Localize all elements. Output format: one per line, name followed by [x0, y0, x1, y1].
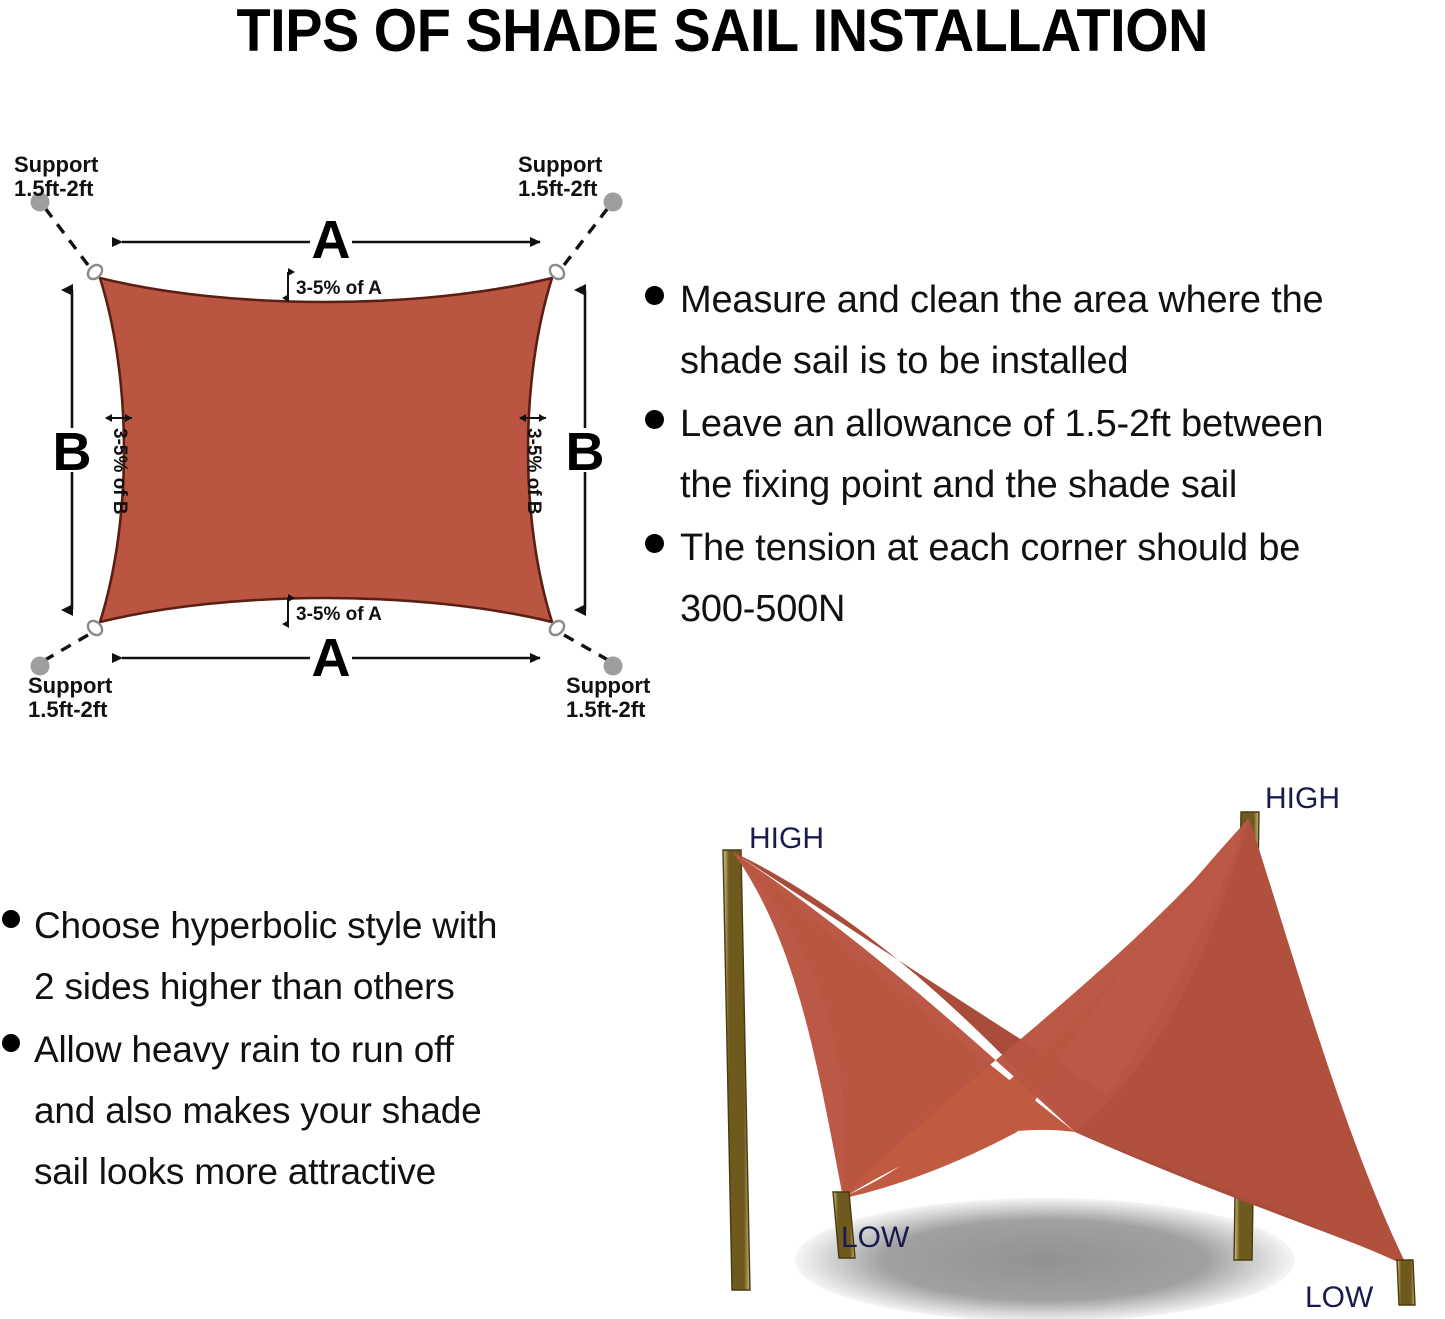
support-label-bottom-left-line2: 1.5ft-2ft: [28, 697, 108, 722]
bullet-icon: [2, 1034, 20, 1052]
support-label-top-left-line2: 1.5ft-2ft: [14, 176, 94, 201]
callout-bottom-label: 3-5% of A: [296, 604, 382, 625]
tether-top-right: [564, 208, 608, 265]
tether-bottom-left: [45, 635, 88, 660]
page-title: TIPS OF SHADE SAIL INSTALLATION: [237, 2, 1208, 60]
list-item: The tension at each corner should be 300…: [645, 518, 1445, 640]
support-label-top-right-line2: 1.5ft-2ft: [518, 176, 598, 201]
tip-line: 2 sides higher than others: [34, 966, 455, 1007]
tip-line: the fixing point and the shade sail: [680, 464, 1237, 506]
dimension-label-b-right: B: [566, 422, 605, 482]
list-item: Measure and clean the area where the sha…: [645, 270, 1445, 392]
tips-list-top: Measure and clean the area where the sha…: [645, 270, 1445, 642]
tips-list-bottom: Choose hyperbolic style with 2 sides hig…: [2, 895, 632, 1204]
support-label-bottom-right-line2: 1.5ft-2ft: [566, 697, 646, 722]
tip-text: Leave an allowance of 1.5-2ft between th…: [680, 394, 1323, 516]
dimension-label-b-left: B: [53, 422, 92, 482]
dimension-label-a-top: A: [312, 210, 351, 270]
list-item: Allow heavy rain to run off and also mak…: [2, 1019, 632, 1202]
bullet-icon: [2, 910, 20, 928]
callout-bottom-curvature-group: 3-5% of A: [288, 598, 382, 625]
tip-line: sail looks more attractive: [34, 1151, 436, 1192]
callout-top-curvature-group: 3-5% of A: [288, 272, 382, 299]
support-label-bottom-left-line1: Support: [28, 673, 113, 698]
dimension-label-a-bottom: A: [312, 628, 351, 688]
pole-label-high-left: HIGH: [749, 822, 824, 855]
tip-line: shade sail is to be installed: [680, 340, 1128, 382]
pole-label-low-left: LOW: [841, 1221, 910, 1254]
sail-body-group: [100, 278, 552, 622]
hyperbolic-sail-illustration: HIGH HIGH LOW LOW: [645, 760, 1445, 1319]
pole-label-low-right: LOW: [1305, 1281, 1374, 1314]
tip-text: Measure and clean the area where the sha…: [680, 270, 1323, 392]
callout-right-label: 3-5% of B: [523, 428, 544, 515]
tip-line: Choose hyperbolic style with: [34, 905, 497, 946]
infographic-page: TIPS OF SHADE SAIL INSTALLATION: [0, 0, 1445, 1319]
callout-left-label: 3-5% of B: [109, 428, 130, 515]
tip-line: and also makes your shade: [34, 1090, 482, 1131]
bullet-icon: [645, 410, 664, 429]
tip-text: Choose hyperbolic style with 2 sides hig…: [34, 895, 497, 1017]
callout-top-label: 3-5% of A: [296, 278, 382, 299]
pole-low-right: [1397, 1260, 1415, 1305]
tip-line: 300-500N: [680, 588, 845, 630]
callout-right-curvature-group: 3-5% of B: [520, 418, 546, 515]
dimension-a-bottom-group: A: [122, 628, 540, 688]
tip-line: Leave an allowance of 1.5-2ft between: [680, 403, 1323, 445]
tip-line: Allow heavy rain to run off: [34, 1029, 454, 1070]
list-item: Choose hyperbolic style with 2 sides hig…: [2, 895, 632, 1017]
tether-bottom-right: [564, 635, 608, 660]
dimension-b-right-group: B: [566, 290, 605, 610]
dimension-a-top-group: A: [122, 210, 540, 270]
tip-line: Measure and clean the area where the: [680, 279, 1323, 321]
title-bar: TIPS OF SHADE SAIL INSTALLATION: [0, 0, 1445, 62]
bullet-icon: [645, 534, 664, 553]
bullet-icon: [645, 286, 664, 305]
shade-sail-shape: [100, 278, 552, 622]
pole-label-high-right: HIGH: [1265, 782, 1340, 815]
rectangle-sail-diagram: Support 1.5ft-2ft Support 1.5ft-2ft Supp…: [0, 150, 660, 730]
list-item: Leave an allowance of 1.5-2ft between th…: [645, 394, 1445, 516]
callout-left-curvature-group: 3-5% of B: [106, 418, 132, 515]
tip-text: Allow heavy rain to run off and also mak…: [34, 1019, 482, 1202]
pole-high-left: [723, 850, 750, 1290]
support-label-top-left-line1: Support: [14, 152, 99, 177]
tip-line: The tension at each corner should be: [680, 527, 1300, 569]
dimension-b-left-group: B: [53, 290, 92, 610]
ground-shadow: [795, 1198, 1295, 1319]
tether-top-left: [45, 208, 88, 265]
support-label-top-right-line1: Support: [518, 152, 603, 177]
tip-text: The tension at each corner should be 300…: [680, 518, 1300, 640]
support-label-bottom-right-line1: Support: [566, 673, 651, 698]
support-dot-top-right: [604, 193, 623, 212]
